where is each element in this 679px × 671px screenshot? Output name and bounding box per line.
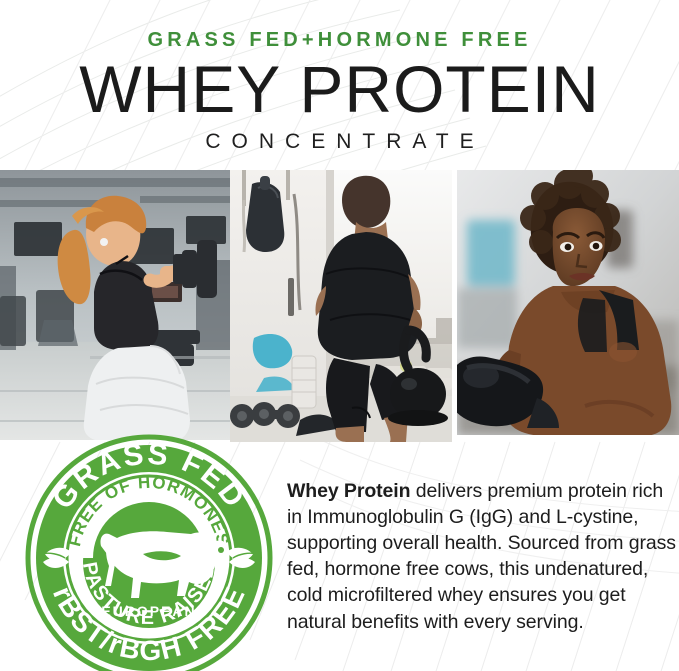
photo-strip <box>0 170 679 442</box>
description-lead: Whey Protein <box>287 480 410 502</box>
subtitle: CONCENTRATE <box>0 130 679 154</box>
page-title: WHEY PROTEIN <box>0 56 679 122</box>
header: GRASS FED+HORMONE FREE WHEY PROTEIN CONC… <box>0 0 679 168</box>
tagline: GRASS FED+HORMONE FREE <box>0 29 679 52</box>
photo-woman-squatting <box>0 170 230 440</box>
bottom-section: GRASS FED rBST/rBGH FREE FREE OF HORMONE… <box>0 442 679 671</box>
product-description: Whey Protein delivers premium protein ri… <box>287 478 679 635</box>
photo-woman-boxing <box>457 170 679 435</box>
grass-fed-badge: GRASS FED rBST/rBGH FREE FREE OF HORMONE… <box>25 434 273 671</box>
description-text: delivers premium protein rich in Immunog… <box>287 480 676 633</box>
product-infographic: GRASS FED+HORMONE FREE WHEY PROTEIN CONC… <box>0 0 679 671</box>
photo-man-kettlebell <box>230 170 452 442</box>
